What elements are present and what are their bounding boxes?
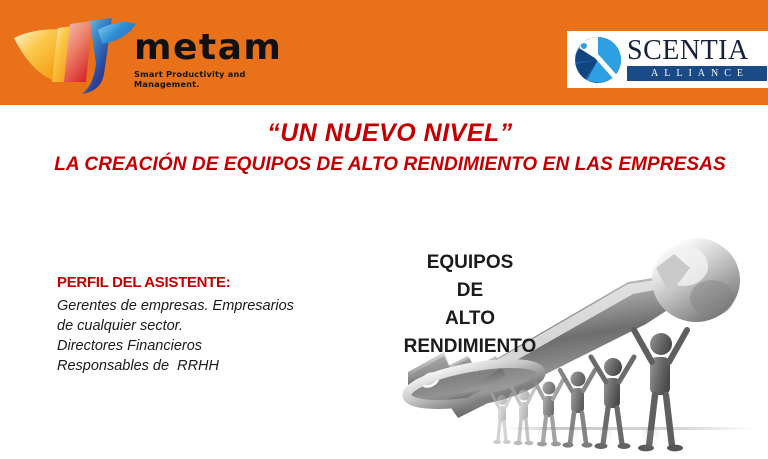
photo-caption-line: EQUIPOS — [400, 252, 540, 274]
metam-wordmark: metam Smart Productivity and Management. — [134, 30, 284, 90]
teamwork-key-illustration: EQUIPOS DE ALTO RENDIMIENTO — [378, 232, 763, 456]
photo-caption-line: RENDIMIENTO — [384, 336, 556, 358]
scentia-wordmark-group: SCENTIA ALLIANCE — [627, 36, 767, 84]
photo-caption-line: ALTO — [400, 308, 540, 330]
slide-canvas: metam Smart Productivity and Management.… — [0, 0, 768, 459]
scentia-logo-mark — [573, 35, 623, 85]
metam-tagline: Smart Productivity and Management. — [134, 69, 284, 89]
metam-logo-mark — [12, 8, 140, 96]
title-block: “UN NUEVO NIVEL” LA CREACIÓN DE EQUIPOS … — [40, 116, 740, 179]
perfil-line: Directores Financieros — [57, 336, 347, 356]
page-title: “UN NUEVO NIVEL” — [40, 116, 740, 150]
photo-caption-line: DE — [400, 280, 540, 302]
perfil-line: Gerentes de empresas. Empresarios — [57, 296, 347, 316]
page-subtitle: LA CREACIÓN DE EQUIPOS DE ALTO RENDIMIEN… — [40, 150, 740, 179]
perfil-line: Responsables de RRHH — [57, 356, 347, 376]
perfil-block: PERFIL DEL ASISTENTE: Gerentes de empres… — [57, 274, 347, 376]
scentia-wordmark: SCENTIA — [627, 36, 767, 65]
metam-word: metam — [134, 30, 284, 66]
perfil-line: de cualquier sector. — [57, 316, 347, 336]
perfil-heading: PERFIL DEL ASISTENTE: — [57, 274, 347, 291]
metam-logo[interactable]: metam Smart Productivity and Management. — [12, 8, 282, 96]
scentia-subtitle: ALLIANCE — [627, 66, 767, 81]
scentia-logo[interactable]: SCENTIA ALLIANCE — [567, 31, 768, 88]
